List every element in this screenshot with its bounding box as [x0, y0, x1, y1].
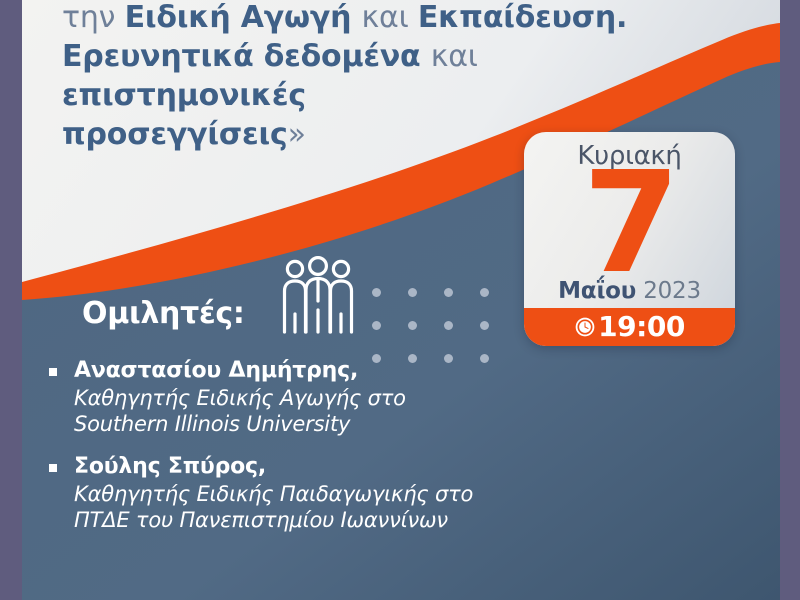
- bullet-icon: [49, 464, 57, 472]
- headline-line-1: την Ειδική Αγωγή και Εκπαίδευση.: [62, 0, 622, 37]
- dot: [408, 288, 417, 297]
- bullet-icon: [49, 368, 57, 376]
- list-item: Αναστασίου Δημήτρης, Καθηγητής Ειδικής Α…: [42, 358, 542, 438]
- left-border-strip: [0, 0, 22, 600]
- headline-text: επιστημονικές: [62, 78, 306, 113]
- headline-text: προσεγγίσεις: [62, 117, 288, 152]
- clock-icon: [574, 316, 596, 338]
- dot: [444, 288, 453, 297]
- dot: [408, 321, 417, 330]
- list-item: Σούλης Σπύρος, Καθηγητής Ειδικής Παιδαγω…: [42, 454, 542, 534]
- speaker-name: Αναστασίου Δημήτρης,: [74, 358, 542, 385]
- headline-text: »: [288, 117, 306, 152]
- people-group-icon: [278, 256, 358, 334]
- date-year: 2023: [643, 278, 701, 304]
- date-day-number: 7: [524, 154, 735, 294]
- dot: [372, 321, 381, 330]
- headline-line-3: επιστημονικές: [62, 76, 622, 115]
- headline-text: και: [431, 39, 478, 74]
- speaker-affiliation: Καθηγητής Ειδικής Παιδαγωγικής στο: [74, 481, 542, 507]
- right-border-strip: [780, 0, 800, 600]
- dot: [480, 321, 489, 330]
- date-card: Κυριακή 7 Μαΐου 2023 19:00: [524, 132, 735, 346]
- event-time-bar: 19:00: [524, 308, 735, 346]
- headline-line-2: Ερευνητικά δεδομένα και: [62, 37, 622, 76]
- dot: [480, 288, 489, 297]
- speaker-name: Σούλης Σπύρος,: [74, 454, 542, 481]
- headline-text: Ερευνητικά δεδομένα: [62, 39, 431, 74]
- speaker-affiliation: Καθηγητής Ειδικής Αγωγής στο: [74, 385, 542, 411]
- dot: [444, 321, 453, 330]
- headline-text: Ειδική Αγωγή: [125, 0, 362, 35]
- headline-text: και: [362, 0, 418, 35]
- headline-text: την: [62, 0, 125, 35]
- speaker-affiliation: ΠΤΔΕ του Πανεπιστημίου Ιωαννίνων: [74, 507, 542, 533]
- date-month-year: Μαΐου 2023: [524, 278, 735, 304]
- headline: την Ειδική Αγωγή και Εκπαίδευση. Ερευνητ…: [62, 0, 622, 154]
- date-month: Μαΐου: [558, 278, 636, 304]
- headline-text: Εκπαίδευση.: [418, 0, 627, 35]
- speakers-list: Αναστασίου Δημήτρης, Καθηγητής Ειδικής Α…: [42, 358, 542, 549]
- speakers-heading: Ομιλητές:: [82, 296, 245, 331]
- speaker-affiliation: Southern Illinois University: [74, 411, 542, 437]
- poster-canvas: την Ειδική Αγωγή και Εκπαίδευση. Ερευνητ…: [22, 0, 780, 600]
- event-poster: την Ειδική Αγωγή και Εκπαίδευση. Ερευνητ…: [0, 0, 800, 600]
- dot: [372, 288, 381, 297]
- event-time: 19:00: [598, 313, 685, 341]
